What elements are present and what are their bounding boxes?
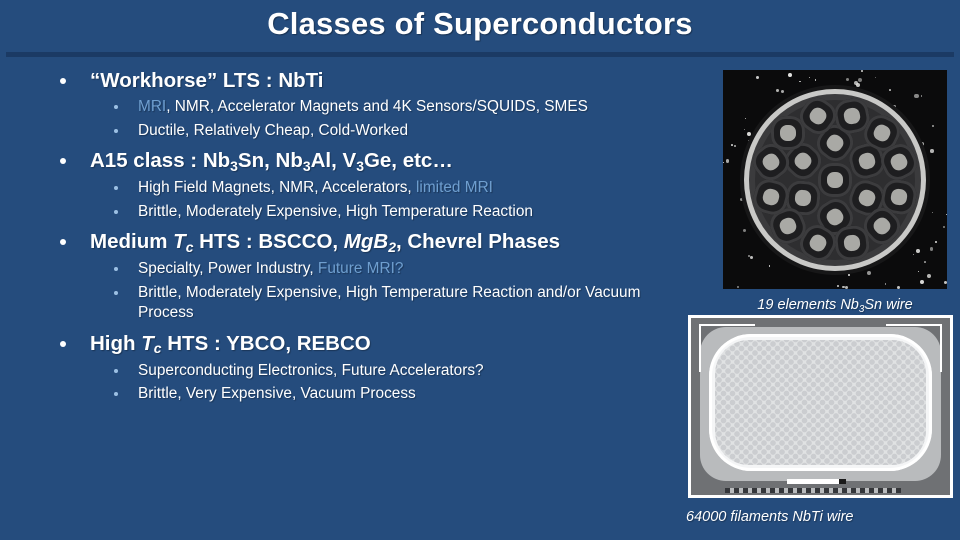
wire-subelement-core <box>807 232 829 254</box>
speck <box>740 198 743 201</box>
speck <box>788 73 792 77</box>
bullet-heading[interactable]: High Tc HTS : YBCO, REBCO <box>46 331 686 358</box>
speck <box>750 256 753 259</box>
bullet-dot-icon <box>60 239 66 245</box>
bullet-dot-icon <box>60 341 66 347</box>
wire-filament-array <box>715 340 926 465</box>
speck <box>914 94 918 98</box>
sub-bullet[interactable]: Specialty, Power Industry, Future MRI? <box>46 259 686 280</box>
bullet-content: “Workhorse” LTS : NbTi MRI, NMR, Acceler… <box>46 68 686 412</box>
speck <box>815 79 817 81</box>
sub-bullet[interactable]: Brittle, Moderately Expensive, High Temp… <box>46 283 686 324</box>
wire-subelement-core <box>843 106 862 125</box>
wire-subelement-core <box>824 205 846 227</box>
micrograph-info-strip <box>725 488 901 493</box>
sub-bullet-dot-icon <box>114 186 118 190</box>
figure-nb3sn-wire-micrograph <box>723 70 947 289</box>
speck <box>920 142 924 146</box>
wire-subelement-core <box>888 152 910 174</box>
wire-subelement-core <box>780 125 796 141</box>
page-title: Classes of Superconductors <box>0 6 960 42</box>
bullet-heading-text: High Tc HTS : YBCO, REBCO <box>90 332 371 355</box>
sub-bullet[interactable]: Brittle, Very Expensive, Vacuum Process <box>46 384 686 405</box>
bullet-group-a15-class: A15 class : Nb3Sn, Nb3Al, V3Ge, etc… Hig… <box>46 148 686 222</box>
corner-bracket-left <box>699 324 701 372</box>
bullet-heading[interactable]: A15 class : Nb3Sn, Nb3Al, V3Ge, etc… <box>46 148 686 175</box>
scale-bar-tick <box>839 479 846 484</box>
speck <box>935 241 938 244</box>
wire-subelement-core <box>794 189 811 206</box>
speck <box>924 261 926 263</box>
speck <box>913 254 914 255</box>
sub-bullet-accent-text: Future MRI? <box>318 260 404 277</box>
speck <box>927 274 931 278</box>
bullet-group-medium-tc-hts: Medium Tc HTS : BSCCO, MgB2, Chevrel Pha… <box>46 229 686 324</box>
sub-bullet-dot-icon <box>114 105 118 109</box>
speck <box>737 286 739 288</box>
wire-subelement-core <box>889 187 908 206</box>
speck <box>734 145 736 147</box>
speck <box>875 77 876 78</box>
speck <box>876 96 880 100</box>
corner-bracket-right <box>940 324 942 372</box>
speck <box>747 132 751 136</box>
speck <box>916 249 920 253</box>
speck <box>824 87 828 91</box>
sub-bullet-dot-icon <box>114 267 118 271</box>
sub-bullet-accent-text: MRI <box>138 98 166 115</box>
sub-bullet-text: Brittle, Moderately Expensive, High Temp… <box>138 284 640 322</box>
speck <box>745 118 746 119</box>
speck <box>946 214 947 216</box>
speck <box>892 105 896 109</box>
bullet-group-high-tc-hts: High Tc HTS : YBCO, REBCO Superconductin… <box>46 331 686 405</box>
speck <box>769 265 770 266</box>
wire-subelement-core <box>870 215 893 238</box>
sub-bullet-text: Specialty, Power Industry, <box>138 260 318 277</box>
speck <box>748 140 750 142</box>
speck <box>756 76 759 79</box>
sub-bullet-text: Superconducting Electronics, Future Acce… <box>138 362 484 379</box>
sub-bullet-dot-icon <box>114 291 118 295</box>
speck <box>781 90 784 93</box>
wire-subelement <box>818 163 852 197</box>
speck <box>944 281 947 284</box>
speck <box>897 286 900 289</box>
sub-bullet-text: High Field Magnets, NMR, Accelerators, <box>138 179 416 196</box>
speck <box>858 78 862 82</box>
speck <box>920 280 924 284</box>
speck <box>889 89 891 91</box>
scale-bar <box>787 479 839 484</box>
wire-subelement-core <box>761 187 781 207</box>
sub-bullet-dot-icon <box>114 369 118 373</box>
wire-subelement-core <box>827 172 843 188</box>
bullet-dot-icon <box>60 158 66 164</box>
speck <box>726 159 730 163</box>
speck <box>845 286 848 289</box>
speck <box>921 95 923 97</box>
sub-bullet-dot-icon <box>114 392 118 396</box>
speck <box>748 255 750 257</box>
bullet-heading[interactable]: “Workhorse” LTS : NbTi <box>46 68 686 94</box>
speck <box>776 89 779 92</box>
sub-bullet-dot-icon <box>114 129 118 133</box>
sub-bullet-accent-text: limited MRI <box>416 179 493 196</box>
bullet-heading-text: Medium Tc HTS : BSCCO, MgB2, Chevrel Pha… <box>90 230 560 253</box>
speck <box>770 112 774 116</box>
speck <box>723 162 724 163</box>
speck <box>848 274 850 276</box>
wire-subelement-core <box>760 151 782 173</box>
corner-bracket-right-top <box>886 324 942 326</box>
wire-subelement-core <box>807 105 829 127</box>
speck <box>743 229 746 232</box>
bullet-dot-icon <box>60 78 66 84</box>
speck <box>867 271 871 275</box>
title-divider <box>6 52 954 57</box>
corner-bracket-left-top <box>699 324 755 326</box>
sub-bullet[interactable]: Superconducting Electronics, Future Acce… <box>46 361 686 382</box>
figure-caption-top: 19 elements Nb3Sn wire <box>723 297 947 313</box>
wire-subelement-core <box>857 188 878 209</box>
wire-subelement-core <box>824 131 846 153</box>
sub-bullet-text: Ductile, Relatively Cheap, Cold-Worked <box>138 122 408 139</box>
wire-subelement-core <box>871 122 892 143</box>
speck <box>918 271 919 272</box>
speck <box>809 77 810 78</box>
sub-bullet[interactable]: High Field Magnets, NMR, Accelerators, l… <box>46 178 686 199</box>
wire-subelement-core <box>792 150 815 173</box>
speck <box>943 226 946 229</box>
speck <box>745 156 747 158</box>
figure-caption-bottom: 64000 filaments NbTi wire <box>686 509 960 525</box>
bullet-heading-text: “Workhorse” LTS : NbTi <box>90 69 324 92</box>
wire-subelement-core <box>778 216 799 237</box>
sub-bullet-text: Brittle, Very Expensive, Vacuum Process <box>138 385 416 402</box>
sub-bullet-text: , NMR, Accelerator Magnets and 4K Sensor… <box>166 98 588 115</box>
speck <box>764 118 766 120</box>
speck <box>837 285 839 287</box>
speck <box>799 81 800 82</box>
speck <box>932 125 935 128</box>
speck <box>932 212 933 213</box>
sub-bullet-dot-icon <box>114 210 118 214</box>
speck <box>885 283 887 285</box>
sub-bullet[interactable]: Brittle, Moderately Expensive, High Temp… <box>46 202 686 223</box>
sub-bullet[interactable]: Ductile, Relatively Cheap, Cold-Worked <box>46 121 686 142</box>
bullet-group-workhorse-lts: “Workhorse” LTS : NbTi MRI, NMR, Acceler… <box>46 68 686 141</box>
speck <box>731 144 733 146</box>
wire-subelement-core <box>843 234 861 252</box>
bullet-heading[interactable]: Medium Tc HTS : BSCCO, MgB2, Chevrel Pha… <box>46 229 686 256</box>
sub-bullet-text: Brittle, Moderately Expensive, High Temp… <box>138 203 533 220</box>
figure-nbti-wire-micrograph <box>688 315 953 498</box>
speck <box>846 78 849 81</box>
speck <box>744 129 745 130</box>
sub-bullet[interactable]: MRI, NMR, Accelerator Magnets and 4K Sen… <box>46 97 686 118</box>
speck <box>930 247 933 250</box>
slide-canvas: Classes of Superconductors “Workhorse” L… <box>0 0 960 540</box>
wire-subelement-core <box>857 151 877 171</box>
bullet-heading-text: A15 class : Nb3Sn, Nb3Al, V3Ge, etc… <box>90 149 453 172</box>
speck <box>930 149 934 153</box>
speck <box>861 70 863 72</box>
